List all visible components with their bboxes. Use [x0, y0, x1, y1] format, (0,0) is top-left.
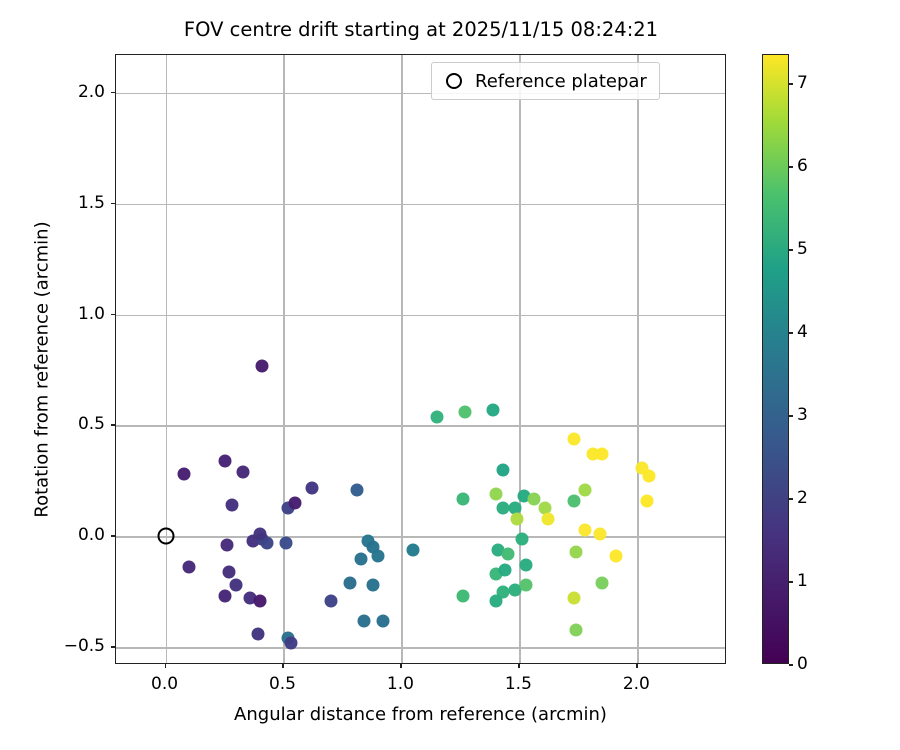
scatter-point	[501, 548, 514, 561]
colorbar-tick	[789, 332, 793, 334]
scatter-point	[256, 359, 269, 372]
x-axis-tick-label: 2.0	[623, 674, 650, 694]
scatter-point	[251, 627, 264, 640]
scatter-point	[279, 537, 292, 550]
x-gridline	[401, 55, 402, 663]
y-axis-tick	[111, 203, 115, 205]
colorbar-tick	[789, 498, 793, 500]
scatter-point	[407, 543, 420, 556]
colorbar-tick-label: 4	[797, 322, 808, 342]
scatter-point	[343, 576, 356, 589]
scatter-point	[520, 559, 533, 572]
y-gridline	[116, 315, 725, 316]
colorbar-tick	[789, 166, 793, 168]
x-axis-tick	[282, 664, 284, 668]
scatter-point	[520, 579, 533, 592]
scatter-point	[253, 528, 266, 541]
x-gridline	[166, 55, 167, 663]
colorbar-tick	[789, 581, 793, 583]
x-axis-tick-label: 1.5	[505, 674, 532, 694]
scatter-point	[220, 539, 233, 552]
page-title: FOV centre drift starting at 2025/11/15 …	[115, 18, 727, 41]
y-axis-tick	[111, 314, 115, 316]
scatter-point	[541, 512, 554, 525]
colorbar-tick	[789, 415, 793, 417]
y-axis-tick	[111, 646, 115, 648]
scatter-point	[456, 492, 469, 505]
x-axis-tick-label: 1.0	[387, 674, 414, 694]
scatter-point	[496, 463, 509, 476]
scatter-point	[355, 552, 368, 565]
y-axis-tick	[111, 535, 115, 537]
legend[interactable]: Reference platepar	[431, 62, 660, 100]
colorbar-tick-label: 1	[797, 571, 808, 591]
x-gridline	[637, 55, 638, 663]
scatter-point	[357, 614, 370, 627]
scatter-point	[511, 512, 524, 525]
x-gridline	[283, 55, 284, 663]
colorbar-tick	[789, 83, 793, 85]
scatter-point	[579, 483, 592, 496]
colorbar-tick-label: 3	[797, 405, 808, 425]
scatter-point	[489, 488, 502, 501]
x-gridline	[519, 55, 520, 663]
scatter-point	[570, 545, 583, 558]
scatter-point	[225, 499, 238, 512]
y-axis-tick-label: 1.5	[13, 193, 105, 213]
x-axis-tick	[400, 664, 402, 668]
plot-area	[115, 54, 726, 664]
scatter-point	[459, 406, 472, 419]
colorbar-gradient[interactable]	[762, 54, 789, 664]
scatter-point	[640, 494, 653, 507]
scatter-point	[371, 550, 384, 563]
x-axis-label: Angular distance from reference (arcmin)	[115, 704, 726, 725]
y-gridline	[116, 204, 725, 205]
scatter-point	[376, 614, 389, 627]
y-gridline	[116, 536, 725, 537]
reference-platepar-point	[157, 528, 174, 545]
x-axis-tick-label: 0.0	[151, 674, 178, 694]
colorbar-tick-label: 5	[797, 239, 808, 259]
scatter-point	[289, 497, 302, 510]
x-axis-tick	[165, 664, 167, 668]
scatter-point	[237, 466, 250, 479]
scatter-point	[527, 492, 540, 505]
scatter-point	[567, 432, 580, 445]
scatter-point	[223, 565, 236, 578]
scatter-point	[570, 623, 583, 636]
scatter-point	[218, 590, 231, 603]
scatter-point	[489, 594, 502, 607]
scatter-point	[305, 481, 318, 494]
scatter-point	[593, 528, 606, 541]
x-axis-tick	[636, 664, 638, 668]
x-axis-tick	[518, 664, 520, 668]
y-axis-tick-label: 1.0	[13, 304, 105, 324]
legend-entry-label: Reference platepar	[475, 71, 647, 92]
y-gridline	[116, 647, 725, 648]
scatter-point	[499, 563, 512, 576]
scatter-point	[595, 448, 608, 461]
y-axis-tick-label: 0.0	[13, 525, 105, 545]
scatter-point	[218, 454, 231, 467]
scatter-point	[430, 410, 443, 423]
reference-platepar-marker-icon	[446, 73, 462, 89]
scatter-point	[610, 550, 623, 563]
scatter-point	[253, 594, 266, 607]
scatter-point	[515, 532, 528, 545]
scatter-point	[230, 579, 243, 592]
y-axis-tick-label: 0.5	[13, 414, 105, 434]
scatter-point	[178, 468, 191, 481]
scatter-point	[567, 592, 580, 605]
y-gridline	[116, 425, 725, 426]
y-axis-label: Rotation from reference (arcmin)	[32, 160, 53, 580]
scatter-point	[595, 576, 608, 589]
colorbar-tick-label: 7	[797, 73, 808, 93]
scatter-point	[567, 494, 580, 507]
y-axis-tick-label: −0.5	[13, 636, 105, 656]
colorbar-tick-label: 6	[797, 156, 808, 176]
colorbar-tick-label: 2	[797, 488, 808, 508]
scatter-point	[350, 483, 363, 496]
scatter-point	[284, 636, 297, 649]
x-axis-tick-label: 0.5	[269, 674, 296, 694]
y-axis-tick-label: 2.0	[13, 82, 105, 102]
scatter-point	[643, 470, 656, 483]
scatter-point	[367, 579, 380, 592]
scatter-point	[183, 561, 196, 574]
scatter-point	[579, 523, 592, 536]
colorbar-tick	[789, 249, 793, 251]
scatter-point	[487, 403, 500, 416]
y-axis-tick	[111, 424, 115, 426]
y-axis-tick	[111, 92, 115, 94]
figure-canvas: FOV centre drift starting at 2025/11/15 …	[0, 0, 900, 750]
scatter-point	[324, 594, 337, 607]
scatter-point	[456, 590, 469, 603]
colorbar-tick-label: 0	[797, 654, 808, 674]
colorbar-tick	[789, 664, 793, 666]
